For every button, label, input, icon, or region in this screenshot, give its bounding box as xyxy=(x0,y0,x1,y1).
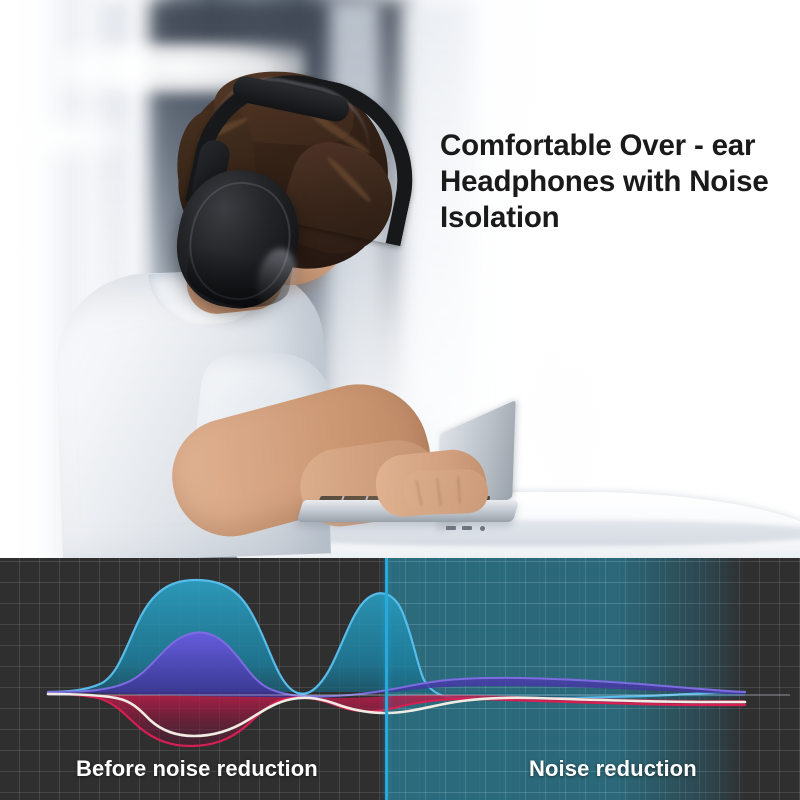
label-noise-reduction: Noise reduction xyxy=(529,756,697,782)
laptop-port xyxy=(462,526,472,530)
hero-photo: Comfortable Over - ear Headphones with N… xyxy=(0,0,800,558)
person xyxy=(0,0,800,558)
headline-line-3: Isolation xyxy=(440,200,770,236)
fingers xyxy=(403,469,488,516)
headline-line-2: Headphones with Noise xyxy=(440,164,770,200)
laptop-port xyxy=(446,526,456,530)
noise-reduction-divider xyxy=(385,558,388,800)
headline-line-1: Comfortable Over - ear xyxy=(440,128,770,164)
product-banner: Comfortable Over - ear Headphones with N… xyxy=(0,0,800,800)
label-before-noise-reduction: Before noise reduction xyxy=(76,756,318,782)
headline: Comfortable Over - ear Headphones with N… xyxy=(440,128,770,236)
laptop-jack xyxy=(480,526,485,531)
